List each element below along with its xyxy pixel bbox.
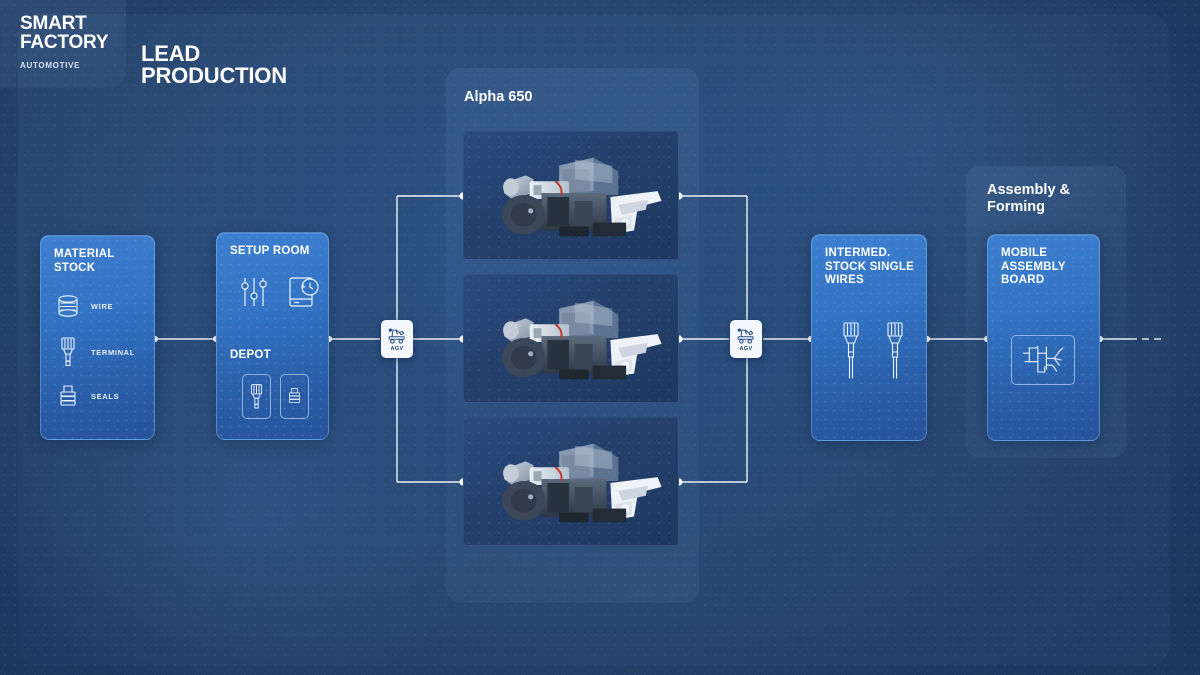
material-item-terminal[interactable]: TERMINAL [55, 336, 135, 368]
machine-alpha-650-photo [464, 418, 678, 545]
material-item-label: WIRE [91, 302, 113, 311]
material-item-seals[interactable]: SEALS [55, 383, 119, 409]
mobile-assembly-board-title: MOBILE ASSEMBLY BOARD [1001, 247, 1066, 288]
assembly-forming-title-line-1: Assembly & [987, 182, 1070, 198]
page-title: LEAD PRODUCTION [141, 43, 287, 87]
station-mobile-assembly-board[interactable]: MOBILE ASSEMBLY BOARD [987, 234, 1100, 441]
sliders-icon [239, 275, 269, 309]
machine-alpha-650-photo [464, 275, 678, 402]
agv-node-1[interactable]: AGV [381, 320, 413, 358]
depot-icons[interactable] [242, 374, 309, 419]
material-item-label: TERMINAL [91, 348, 135, 357]
logo-line-1: SMART [20, 13, 87, 34]
material-stock-title-line-1: MATERIAL [54, 248, 115, 260]
machine-tile-1[interactable] [463, 131, 679, 260]
depot-title: DEPOT [230, 349, 271, 361]
document-clock-icon [287, 275, 321, 309]
station-material-stock[interactable]: MATERIAL STOCK WIRE [40, 235, 155, 440]
mobile-assembly-board-title-line-1: MOBILE [1001, 247, 1047, 259]
seals-icon [285, 383, 304, 410]
intermediate-stock-icons[interactable] [840, 321, 906, 381]
material-stock-title-line-2: STOCK [54, 262, 95, 274]
setup-room-icons[interactable] [239, 275, 321, 309]
material-item-wire[interactable]: WIRE [55, 292, 113, 320]
setup-room-title: SETUP ROOM [230, 245, 310, 259]
single-wire-terminal-icon [884, 321, 906, 381]
terminal-icon [248, 381, 265, 412]
terminal-icon [55, 336, 81, 368]
harness-icon-box[interactable] [1011, 335, 1075, 385]
assembly-forming-title: Assembly & Forming [987, 182, 1070, 216]
single-wire-terminal-icon [840, 321, 862, 381]
assembly-board-icon-wrap[interactable] [1011, 335, 1075, 385]
wire-harness-icon [1018, 342, 1068, 378]
alpha-650-title: Alpha 650 [464, 89, 533, 106]
intermediate-stock-title-line-3: WIRES [825, 274, 864, 286]
smart-factory-diagram: SMART FACTORY AUTOMOTIVE LEAD PRODUCTION [0, 0, 1200, 675]
intermediate-stock-title-line-1: INTERMED. [825, 247, 891, 259]
station-setup-room[interactable]: SETUP ROOM [216, 232, 329, 440]
logo-subtitle: AUTOMOTIVE [20, 61, 80, 70]
page-title-line-2: PRODUCTION [141, 63, 287, 88]
depot-seals-box[interactable] [280, 374, 309, 419]
agv-node-2[interactable]: AGV [730, 320, 762, 358]
agv-robot-icon [736, 326, 756, 345]
material-stock-title: MATERIAL STOCK [54, 248, 115, 275]
agv-label: AGV [390, 346, 403, 352]
machine-tile-3[interactable] [463, 417, 679, 546]
machine-tile-2[interactable] [463, 274, 679, 403]
agv-label: AGV [739, 346, 752, 352]
logo-title: SMART FACTORY [20, 14, 108, 52]
intermediate-stock-title-line-2: STOCK SINGLE [825, 261, 914, 273]
machine-alpha-650-photo [464, 132, 678, 259]
intermediate-stock-title: INTERMED. STOCK SINGLE WIRES [825, 247, 914, 288]
mobile-assembly-board-title-line-2: ASSEMBLY [1001, 261, 1066, 273]
agv-robot-icon [387, 326, 407, 345]
depot-terminal-box[interactable] [242, 374, 271, 419]
logo-line-2: FACTORY [20, 32, 108, 53]
assembly-forming-title-line-2: Forming [987, 199, 1045, 215]
seals-icon [55, 383, 81, 409]
wire-spool-icon [55, 292, 81, 320]
station-intermediate-stock[interactable]: INTERMED. STOCK SINGLE WIRES [811, 234, 927, 441]
material-item-label: SEALS [91, 392, 119, 401]
mobile-assembly-board-title-line-3: BOARD [1001, 274, 1044, 286]
